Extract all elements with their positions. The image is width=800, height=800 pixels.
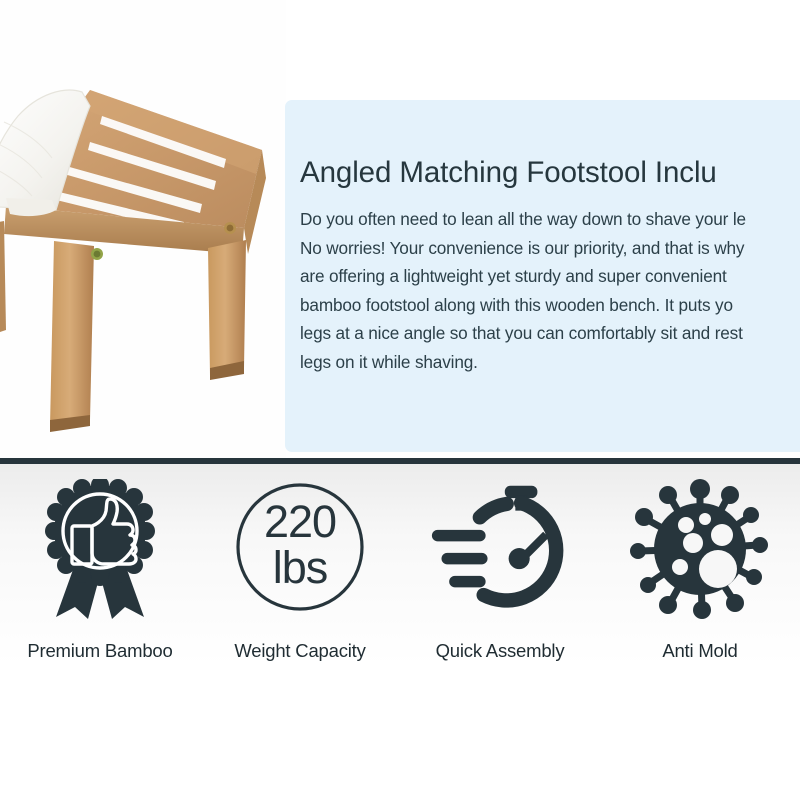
- stopwatch-speed-icon: [430, 478, 570, 620]
- virus-germ-icon: [630, 478, 770, 620]
- feature-label-premium-bamboo: Premium Bamboo: [27, 640, 172, 662]
- weight-capacity-value: 220: [264, 496, 336, 547]
- feature-weight-capacity: 220 lbs Weight Capacity: [200, 478, 400, 662]
- product-feature-page: Angled Matching Footstool Inclu Do you o…: [0, 0, 800, 800]
- hero-section: Angled Matching Footstool Inclu Do you o…: [0, 0, 800, 458]
- feature-anti-mold: Anti Mold: [600, 478, 800, 662]
- feature-label-anti-mold: Anti Mold: [662, 640, 737, 662]
- description-panel: Angled Matching Footstool Inclu Do you o…: [285, 100, 800, 452]
- description-panel-content: Angled Matching Footstool Inclu Do you o…: [300, 100, 800, 452]
- award-ribbon-thumbs-up-icon: [30, 478, 170, 620]
- feature-quick-assembly: Quick Assembly: [400, 478, 600, 662]
- feature-row: Premium Bamboo 220 lbs Weight Capacity: [0, 464, 800, 800]
- bamboo-footstool-illustration: [0, 58, 286, 458]
- feature-label-quick-assembly: Quick Assembly: [436, 640, 565, 662]
- feature-premium-bamboo: Premium Bamboo: [0, 478, 200, 662]
- product-photo: [0, 0, 286, 458]
- weight-capacity-circle-icon: 220 lbs: [230, 478, 370, 620]
- description-text: Do you often need to lean all the way do…: [300, 205, 800, 376]
- weight-capacity-unit: lbs: [273, 542, 328, 593]
- feature-label-weight-capacity: Weight Capacity: [234, 640, 365, 662]
- page-title: Angled Matching Footstool Inclu: [300, 157, 800, 189]
